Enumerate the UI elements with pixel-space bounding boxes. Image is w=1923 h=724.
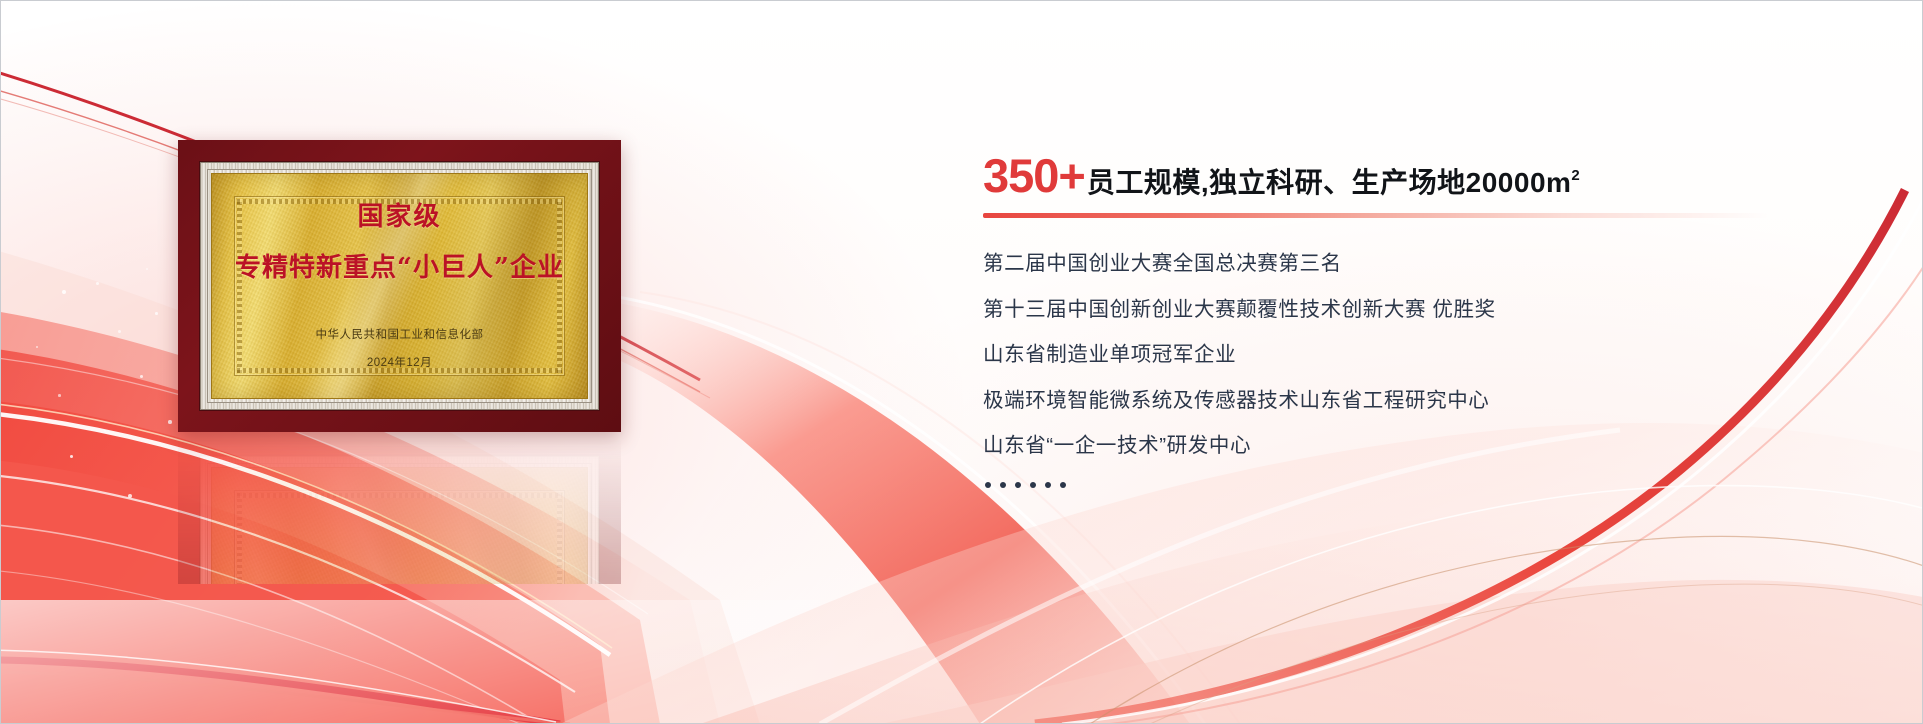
banner-border — [0, 0, 1923, 724]
promo-banner: 国家级 专精特新重点“小巨人”企业 中华人民共和国工业和信息化部 2024年12… — [0, 0, 1923, 724]
